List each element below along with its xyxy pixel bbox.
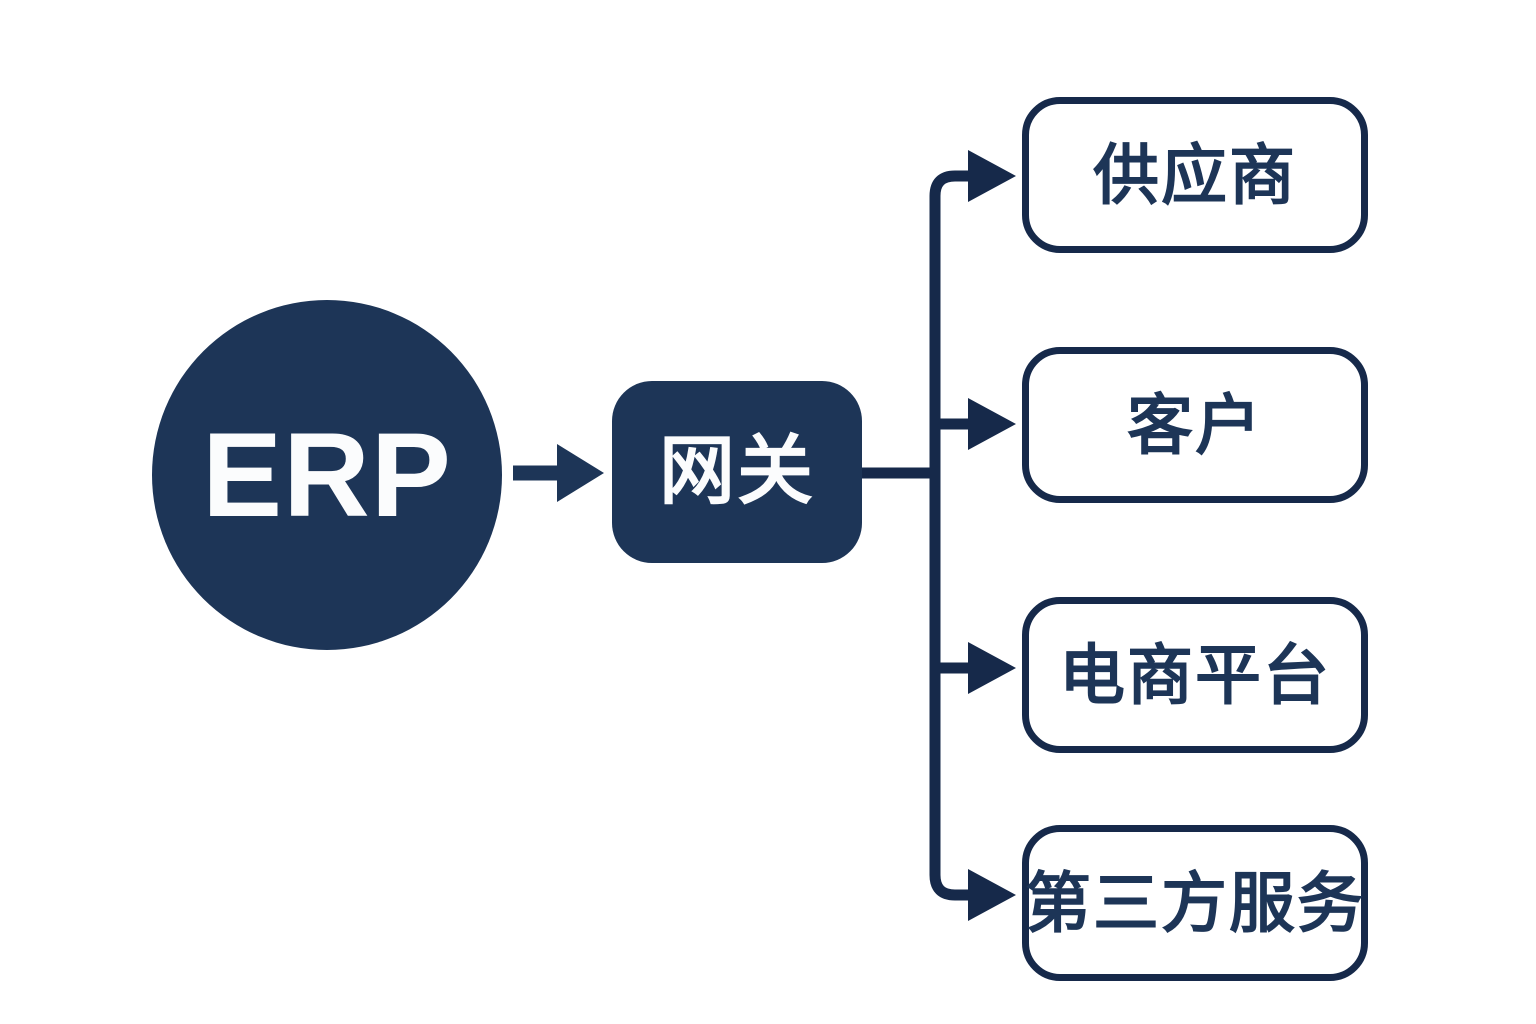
endpoint-node-supplier-label: 供应商	[1093, 142, 1297, 208]
gateway-node-label: 网关	[659, 434, 815, 510]
node-layer: ERP 网关 供应商 客户 电商平台 第三方服务	[0, 0, 1536, 1024]
endpoint-node-customer-label: 客户	[1127, 392, 1263, 458]
diagram-canvas: ERP 网关 供应商 客户 电商平台 第三方服务	[0, 0, 1536, 1024]
endpoint-node-third-party-service[interactable]: 第三方服务	[1022, 825, 1368, 981]
endpoint-node-customer[interactable]: 客户	[1022, 347, 1368, 503]
endpoint-node-ecommerce-platform[interactable]: 电商平台	[1022, 597, 1368, 753]
erp-source-node[interactable]: ERP	[152, 300, 502, 650]
erp-node-label: ERP	[202, 415, 452, 535]
endpoint-node-third-party-service-label: 第三方服务	[1025, 870, 1365, 936]
gateway-hub-node[interactable]: 网关	[612, 381, 862, 563]
endpoint-node-ecommerce-platform-label: 电商平台	[1059, 642, 1331, 708]
endpoint-node-supplier[interactable]: 供应商	[1022, 97, 1368, 253]
